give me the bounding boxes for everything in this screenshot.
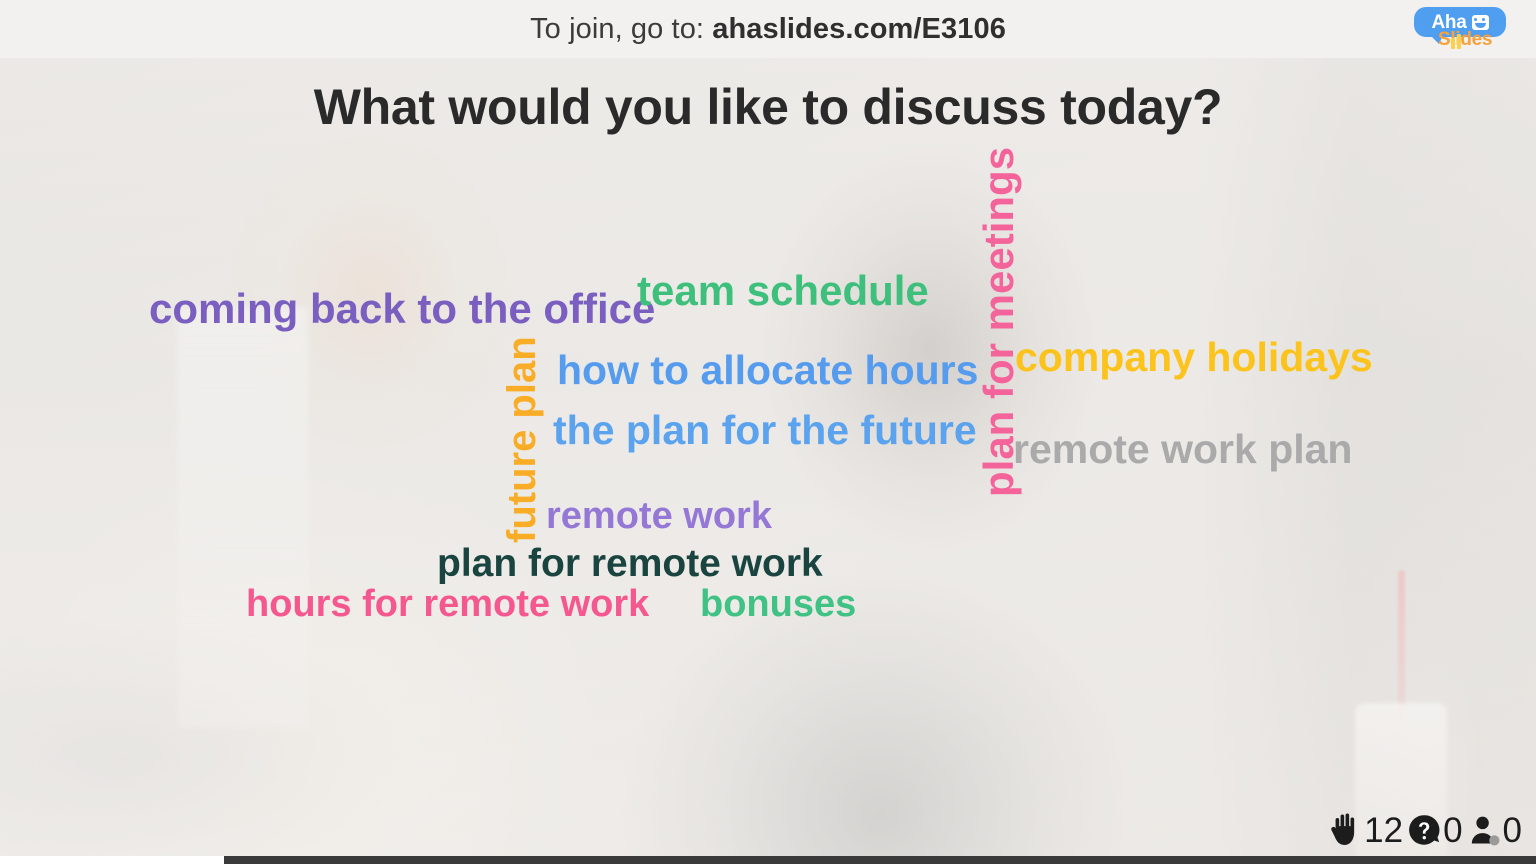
word-cloud: coming back to the officeteam schedulepl… <box>0 0 1536 864</box>
word-cloud-item: hours for remote work <box>246 585 649 623</box>
person-icon <box>1467 813 1501 847</box>
audience-counter[interactable]: 0 <box>1467 813 1522 848</box>
questions-count: 0 <box>1443 813 1462 848</box>
logo-bar-tall-icon <box>1457 34 1461 49</box>
questions-counter[interactable]: 0 <box>1407 813 1462 848</box>
ahaslides-logo[interactable]: Aha Slides <box>1406 5 1526 55</box>
join-instruction-text: To join, go to: ahaslides.com/E3106 <box>530 13 1006 46</box>
raise-hand-count: 12 <box>1364 813 1403 848</box>
word-cloud-item: how to allocate hours <box>557 350 978 391</box>
question-mark-bubble-icon <box>1407 813 1441 847</box>
smiley-face-icon <box>1472 15 1489 30</box>
word-cloud-item: company holidays <box>1015 337 1373 378</box>
join-url: ahaslides.com/E3106 <box>712 13 1006 45</box>
word-cloud-item: coming back to the office <box>149 288 655 330</box>
join-instruction-bar: To join, go to: ahaslides.com/E3106 <box>0 0 1536 58</box>
raise-hand-counter[interactable]: 12 <box>1328 812 1403 848</box>
logo-slides-label: Slides <box>1438 29 1492 50</box>
word-cloud-item: bonuses <box>700 585 856 623</box>
word-cloud-item: team schedule <box>637 270 929 312</box>
word-cloud-item: remote work plan <box>1013 429 1352 470</box>
word-cloud-item: the plan for the future <box>553 410 977 451</box>
logo-bar-short-icon <box>1451 38 1455 49</box>
bottom-strip <box>0 856 1536 864</box>
word-cloud-item: plan for remote work <box>437 544 823 583</box>
raised-hand-icon <box>1328 812 1362 848</box>
audience-count: 0 <box>1503 813 1522 848</box>
word-cloud-item: remote work <box>546 497 772 535</box>
logo-slides-text: Slides <box>1438 29 1492 51</box>
status-counters: 12 0 0 <box>1328 812 1522 848</box>
word-cloud-item: future plan <box>502 336 542 543</box>
presentation-slide: To join, go to: ahaslides.com/E3106 Aha … <box>0 0 1536 864</box>
join-prefix-label: To join, go to: <box>530 13 712 45</box>
